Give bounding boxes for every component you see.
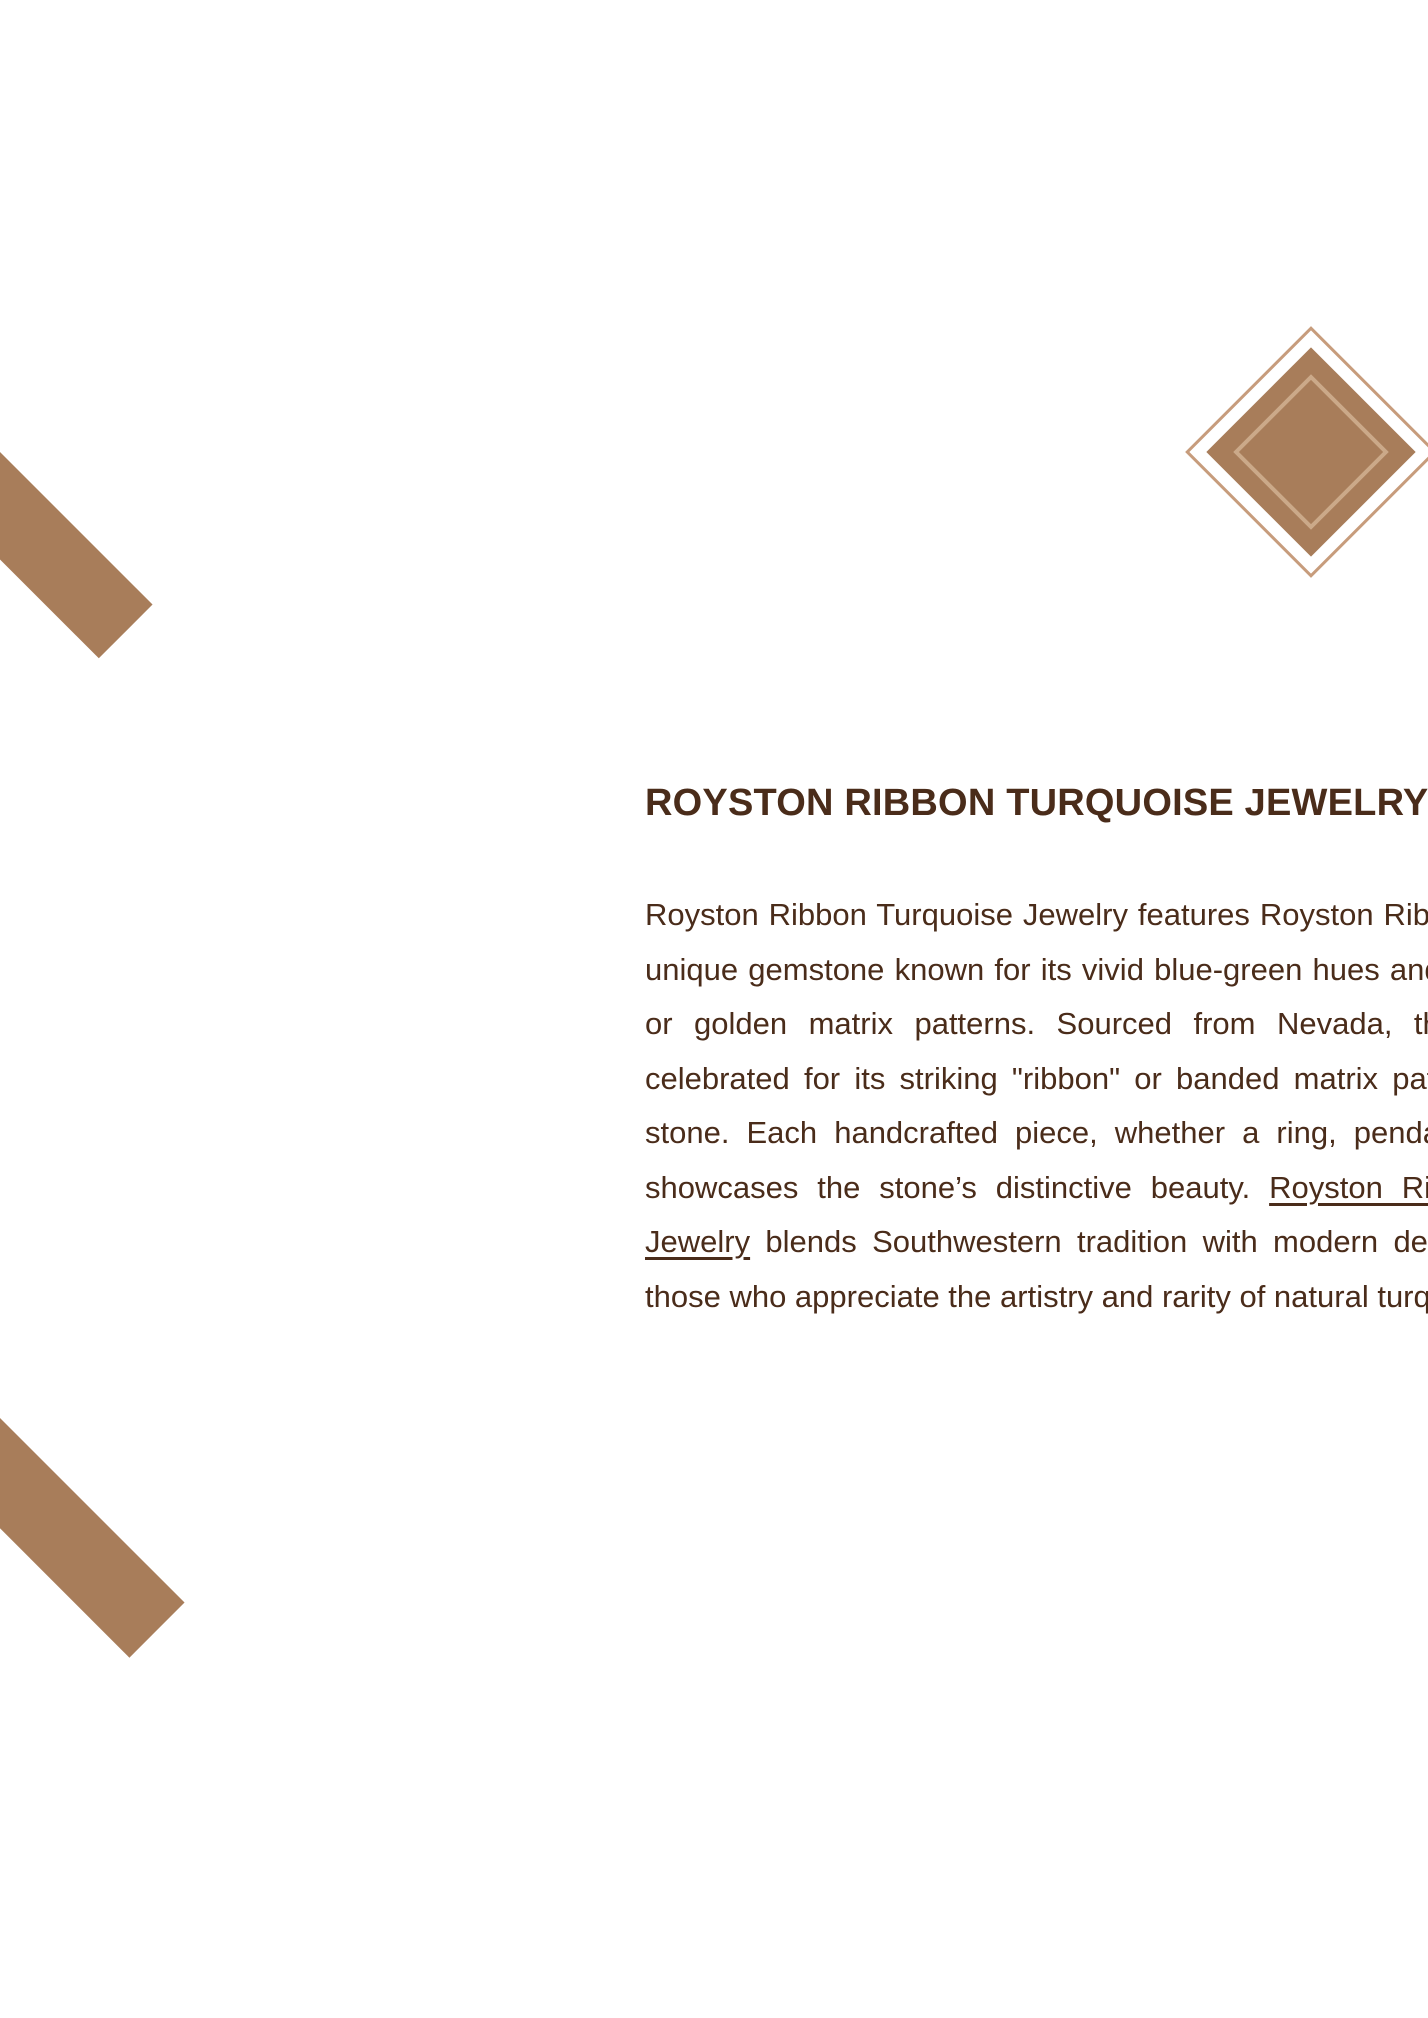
diagonal-stripe-bottom-left-icon [0, 1150, 185, 1658]
article-content: ROYSTON RIBBON TURQUOISE JEWELRY Royston… [645, 780, 1428, 1324]
page-canvas: ROYSTON RIBBON TURQUOISE JEWELRY Royston… [0, 0, 1428, 2018]
diagonal-stripe-top-left-icon [0, 152, 153, 658]
body-text-after-link: blends Southwestern tradition with moder… [645, 1224, 1428, 1314]
body-text-before-link: Royston Ribbon Turquoise Jewelry feature… [645, 897, 1428, 1205]
diamond-ornament-icon [1222, 363, 1428, 615]
article-body: Royston Ribbon Turquoise Jewelry feature… [645, 888, 1428, 1324]
page-title: ROYSTON RIBBON TURQUOISE JEWELRY [645, 780, 1428, 826]
